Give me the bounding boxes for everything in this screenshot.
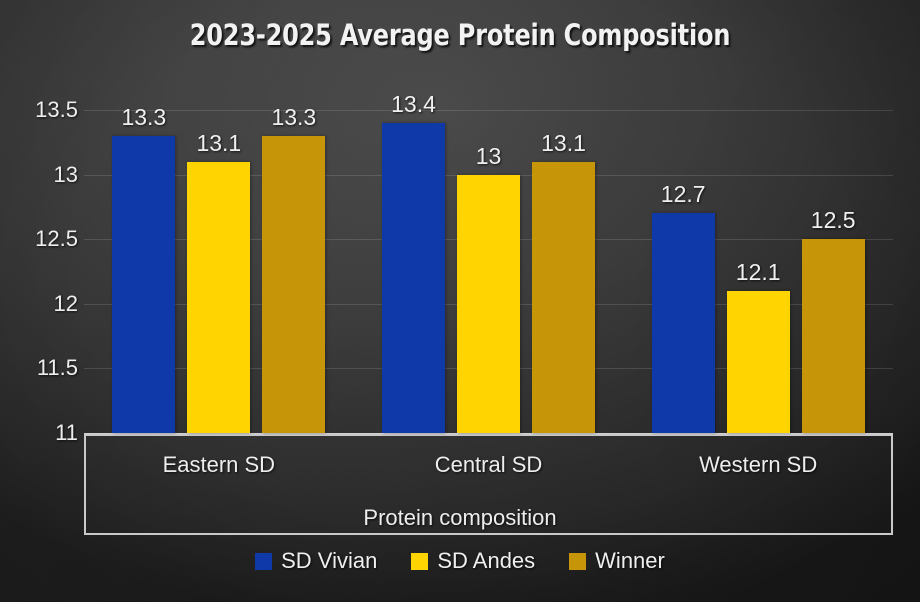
x-axis-category-label: Western SD <box>699 452 817 478</box>
legend-label: SD Vivian <box>281 548 377 574</box>
bar-winner-central-sd[interactable] <box>532 162 595 433</box>
bar-value-label: 12.1 <box>736 259 781 286</box>
legend-item-winner[interactable]: Winner <box>569 548 665 574</box>
bar-value-label: 13.4 <box>391 91 436 118</box>
bar-value-label: 12.7 <box>661 181 706 208</box>
bar-value-label: 13.3 <box>121 104 166 131</box>
chart-container: 2023-2025 Average Protein Composition 13… <box>0 0 920 602</box>
legend-label: Winner <box>595 548 665 574</box>
x-axis-category-label: Central SD <box>435 452 543 478</box>
chart-title: 2023-2025 Average Protein Composition <box>37 18 883 52</box>
x-axis-title: Protein composition <box>0 505 920 531</box>
bar-sd-vivian-eastern-sd[interactable] <box>112 136 175 433</box>
legend-swatch-icon <box>569 553 586 570</box>
y-axis-tick-label: 13 <box>12 162 78 188</box>
y-axis-tick-label: 11.5 <box>12 355 78 381</box>
plot-area: 13.313.113.313.41313.112.712.112.5 <box>84 110 893 433</box>
legend: SD VivianSD AndesWinner <box>0 548 920 574</box>
bar-sd-vivian-central-sd[interactable] <box>382 123 445 433</box>
y-axis-tick-label: 11 <box>12 420 78 446</box>
legend-swatch-icon <box>255 553 272 570</box>
gridline <box>84 433 893 434</box>
bars-layer: 13.313.113.313.41313.112.712.112.5 <box>84 110 893 433</box>
y-axis-tick-label: 12.5 <box>12 226 78 252</box>
bar-sd-andes-central-sd[interactable] <box>457 175 520 433</box>
bar-value-label: 13.1 <box>541 130 586 157</box>
y-axis-tick-label: 12 <box>12 291 78 317</box>
bar-value-label: 13.1 <box>196 130 241 157</box>
x-axis-category-label: Eastern SD <box>163 452 276 478</box>
bar-sd-vivian-western-sd[interactable] <box>652 213 715 433</box>
bar-value-label: 13 <box>476 143 502 170</box>
legend-item-sd-vivian[interactable]: SD Vivian <box>255 548 377 574</box>
bar-value-label: 12.5 <box>811 207 856 234</box>
legend-item-sd-andes[interactable]: SD Andes <box>411 548 535 574</box>
bar-value-label: 13.3 <box>271 104 316 131</box>
legend-swatch-icon <box>411 553 428 570</box>
y-axis-tick-label: 13.5 <box>12 97 78 123</box>
bar-winner-western-sd[interactable] <box>802 239 865 433</box>
legend-label: SD Andes <box>437 548 535 574</box>
bar-winner-eastern-sd[interactable] <box>262 136 325 433</box>
bar-sd-andes-eastern-sd[interactable] <box>187 162 250 433</box>
y-axis-tick-labels: 13.51312.51211.511 <box>0 110 78 433</box>
bar-sd-andes-western-sd[interactable] <box>727 291 790 433</box>
